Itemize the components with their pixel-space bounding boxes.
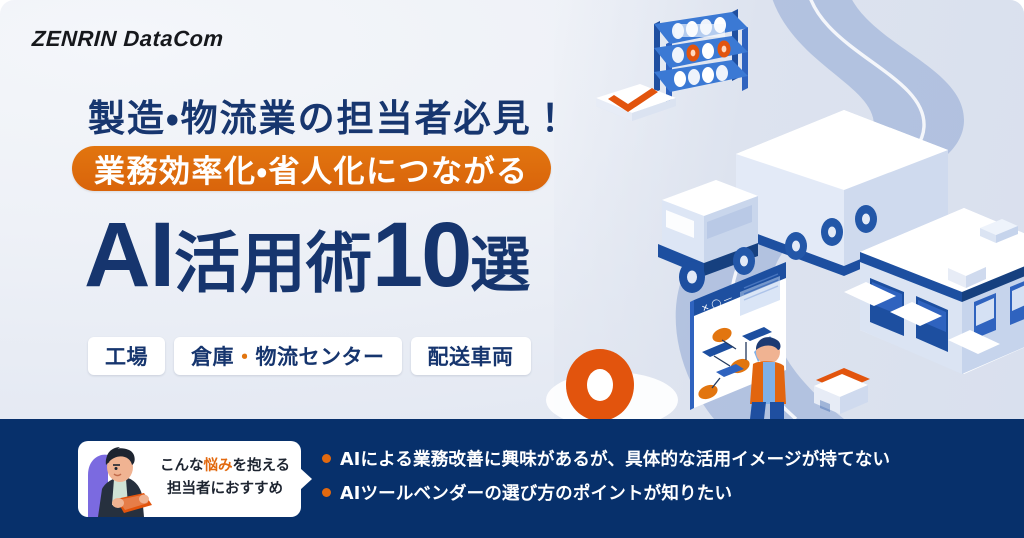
headline-ai: AI — [84, 212, 174, 299]
hero-headline: AI 活用術 10 選 — [84, 212, 530, 299]
tag-logistics-center-label: 物流センター — [256, 341, 385, 371]
recommendation-speech-bubble: こんな悩みを抱える 担当者におすすめ — [78, 441, 301, 517]
tag-delivery-vehicle-label: 配送車両 — [428, 341, 514, 371]
tag-warehouse-label: 倉庫 — [191, 341, 234, 371]
headline-kanji: 活用術 — [174, 233, 372, 296]
pain-point-2-text: AIツールベンダーの選び方のポイントが知りたい — [340, 480, 732, 505]
tag-factory-label: 工場 — [105, 341, 148, 371]
tag-separator-dot: ・ — [234, 341, 256, 371]
tag-delivery-vehicle[interactable]: 配送車両 — [411, 337, 531, 375]
headline-suffix: 選 — [470, 238, 530, 295]
bullet-dot-icon — [322, 488, 331, 497]
list-item: AIツールベンダーの選び方のポイントが知りたい — [322, 480, 890, 505]
headline-number: 10 — [372, 212, 470, 299]
promo-banner: ✕ ◯ — — [0, 0, 1024, 538]
person-avatar-illustration — [82, 441, 156, 517]
pain-point-1-text: AIによる業務改善に興味があるが、具体的な活用イメージが持てない — [340, 446, 890, 471]
bubble-line2: 担当者におすすめ — [167, 481, 283, 497]
hero-copy: 製造・物流業の担当者必見！ 業務効率化・省人化につながる AI 活用術 10 選… — [0, 0, 640, 419]
hero-pill-text: 業務効率化・省人化につながる — [94, 146, 529, 191]
storage-rack — [654, 9, 748, 103]
pain-points-list: AIによる業務改善に興味があるが、具体的な活用イメージが持てない AIツールベン… — [322, 446, 890, 514]
bubble-line1-after: を抱える — [232, 458, 290, 474]
footer-section: こんな悩みを抱える 担当者におすすめ AIによる業務改善に興味があるが、具体的な… — [0, 419, 1024, 538]
hero-pill-badge: 業務効率化・省人化につながる — [72, 146, 551, 191]
bubble-line1-before: こんな — [160, 458, 204, 474]
bullet-dot-icon — [322, 454, 331, 463]
tag-warehouse-logistics-center[interactable]: 倉庫 ・ 物流センター — [174, 337, 402, 375]
hero-kicker: 製造・物流業の担当者必見！ — [88, 88, 571, 142]
bubble-line1-highlight: 悩み — [203, 458, 232, 474]
tag-factory[interactable]: 工場 — [88, 337, 165, 375]
cardboard-boxes — [814, 368, 870, 414]
list-item: AIによる業務改善に興味があるが、具体的な活用イメージが持てない — [322, 446, 890, 471]
hero-section: ✕ ◯ — — [0, 0, 1024, 419]
recommendation-text: こんな悩みを抱える 担当者におすすめ — [154, 455, 296, 502]
hero-tag-list: 工場 倉庫 ・ 物流センター 配送車両 — [88, 337, 531, 375]
